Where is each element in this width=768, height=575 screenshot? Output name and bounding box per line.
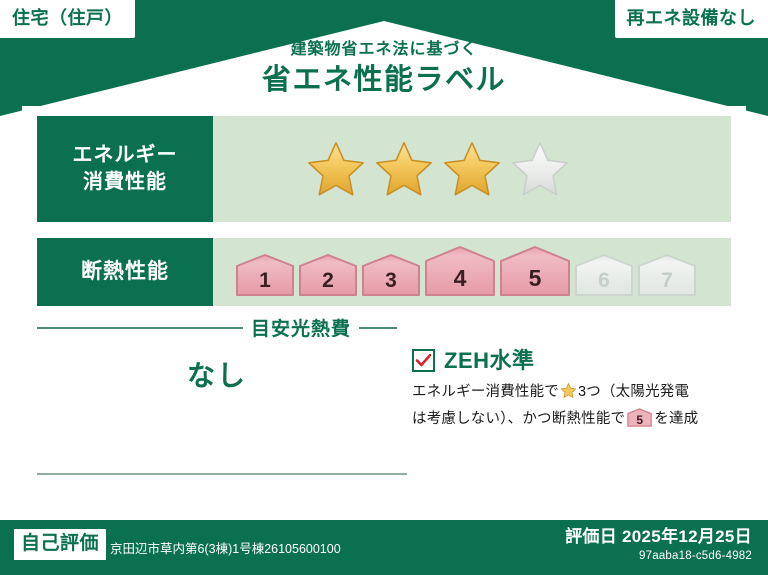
insulation-grade-6: 6: [574, 253, 634, 297]
insulation-grade-3-value: 3: [361, 270, 421, 291]
insulation-grade-2-value: 2: [298, 270, 358, 291]
label-id: 97aaba18-c5d6-4982: [565, 550, 752, 563]
divider-left: [37, 327, 243, 329]
utility-cost-heading: 目安光熱費: [37, 314, 397, 341]
zeh-desc-star-count: 3つ（太陽光発電: [578, 384, 689, 400]
row-energy-consumption: エネルギー 消費性能: [37, 116, 731, 222]
insulation-grade-1: 1: [235, 253, 295, 297]
insulation-grade-5: 5: [499, 245, 571, 297]
row-energy-label-line1: エネルギー: [73, 142, 178, 169]
row-energy-value: [213, 116, 731, 222]
divider-right: [359, 327, 397, 329]
utility-cost-value: なし: [37, 354, 397, 394]
star-rating: [305, 138, 571, 200]
insulation-grade-3: 3: [361, 253, 421, 297]
insulation-grade-5-value: 5: [499, 267, 571, 290]
label-title: 省エネ性能ラベル: [0, 64, 768, 97]
insulation-grade-inline: 5: [627, 408, 652, 427]
footer: 自己評価 京田辺市草内第6(3棟)1号棟26105600100 評価日 2025…: [0, 515, 768, 575]
insulation-grade-6-value: 6: [574, 270, 634, 291]
row-energy-label: エネルギー 消費性能: [37, 116, 213, 222]
content-panel: エネルギー 消費性能: [22, 106, 746, 515]
utility-cost-title: 目安光熱費: [251, 314, 351, 341]
zeh-checkbox: [412, 349, 435, 372]
evaluation-type-badge: 自己評価: [14, 529, 106, 560]
row-insulation: 断熱性能: [37, 238, 731, 306]
star-icon-filled-2: [373, 138, 435, 200]
insulation-grade-4-value: 4: [424, 267, 496, 290]
row-insulation-label: 断熱性能: [37, 238, 213, 306]
insulation-grade-scale: 1 2 3: [235, 238, 697, 306]
tag-building-type: 住宅（住戸）: [0, 0, 135, 38]
insulation-grade-7-value: 7: [637, 270, 697, 291]
property-address: 京田辺市草内第6(3棟)1号棟26105600100: [110, 543, 341, 561]
zeh-description: エネルギー消費性能で3つ（太陽光発電は考慮しない）、かつ断熱性能で5を達成: [412, 381, 732, 432]
star-icon-filled-3: [441, 138, 503, 200]
insulation-grade-2: 2: [298, 253, 358, 297]
label-subtitle: 建築物省エネ法に基づく: [0, 40, 768, 59]
insulation-grade-7: 7: [637, 253, 697, 297]
star-icon-inline: [560, 382, 577, 408]
star-icon-filled-1: [305, 138, 367, 200]
zeh-header: ZEH水準: [412, 349, 732, 372]
check-icon: [415, 352, 432, 369]
title-block: 建築物省エネ法に基づく 省エネ性能ラベル: [0, 40, 768, 98]
energy-performance-label: 住宅（住戸） 再エネ設備なし 建築物省エネ法に基づく 省エネ性能ラベル エネルギ…: [0, 0, 768, 575]
footer-right: 評価日 2025年12月25日 97aaba18-c5d6-4982: [565, 527, 752, 563]
zeh-desc-part3: を達成: [654, 411, 698, 427]
insulation-grade-inline-value: 5: [627, 414, 652, 426]
zeh-desc-part1: エネルギー消費性能で: [412, 384, 559, 400]
zeh-title: ZEH水準: [444, 350, 535, 372]
zeh-block: ZEH水準 エネルギー消費性能で3つ（太陽光発電は考慮しない）、かつ断熱性能で5…: [412, 349, 732, 432]
footer-left: 自己評価 京田辺市草内第6(3棟)1号棟26105600100: [14, 529, 341, 560]
row-energy-label-line2: 消費性能: [73, 169, 178, 196]
evaluation-date: 評価日 2025年12月25日: [565, 527, 752, 547]
zeh-desc-part2: は考慮しない）、かつ断熱性能で: [412, 411, 625, 427]
insulation-grade-4: 4: [424, 245, 496, 297]
tag-renewable-energy: 再エネ設備なし: [615, 0, 768, 38]
row-insulation-value: 1 2 3: [213, 238, 731, 306]
insulation-grade-1-value: 1: [235, 270, 295, 291]
section-divider: [37, 473, 407, 475]
star-icon-empty-4: [509, 138, 571, 200]
